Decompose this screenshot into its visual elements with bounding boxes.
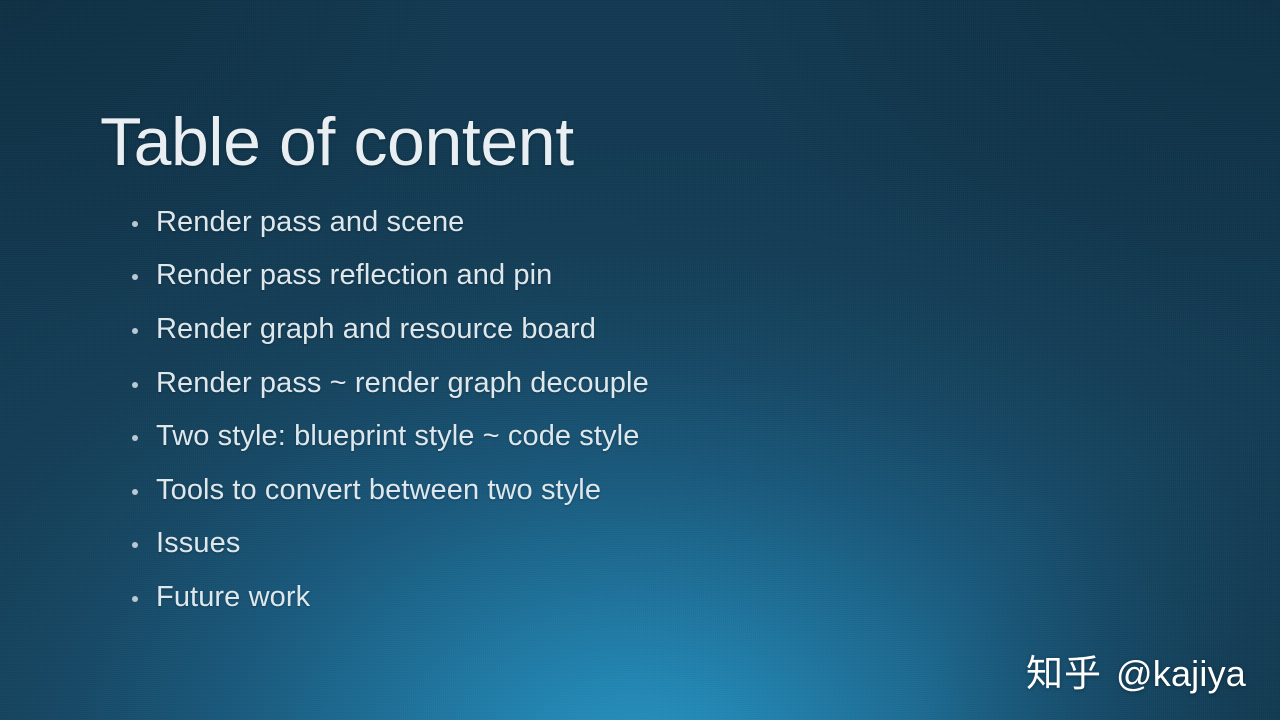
list-item: Render pass reflection and pin (128, 250, 1128, 304)
list-item: Render pass and scene (128, 196, 1128, 250)
bullet-list: Render pass and scene Render pass reflec… (128, 196, 1128, 625)
bullet-dot-icon (132, 489, 138, 495)
list-item-label: Render pass ~ render graph decouple (156, 368, 649, 400)
list-item: Render pass ~ render graph decouple (128, 357, 1128, 411)
list-item-label: Tools to convert between two style (156, 475, 601, 507)
list-item-label: Render pass and scene (156, 207, 464, 239)
list-item: Two style: blueprint style ~ code style (128, 410, 1128, 464)
bullet-dot-icon (132, 435, 138, 441)
list-item-label: Two style: blueprint style ~ code style (156, 421, 639, 453)
list-item: Issues (128, 518, 1128, 572)
list-item: Future work (128, 571, 1128, 625)
list-item-label: Render pass reflection and pin (156, 260, 552, 292)
watermark: 知乎 @kajiya (1026, 655, 1246, 692)
list-item-label: Render graph and resource board (156, 314, 596, 346)
list-item-label: Issues (156, 528, 240, 560)
presentation-slide: Table of content Render pass and scene R… (0, 0, 1280, 720)
bullet-dot-icon (132, 328, 138, 334)
bullet-dot-icon (132, 542, 138, 548)
watermark-handle: @kajiya (1116, 656, 1246, 692)
slide-content: Table of content Render pass and scene R… (0, 0, 1280, 720)
bullet-dot-icon (132, 596, 138, 602)
slide-title: Table of content (100, 108, 574, 176)
bullet-dot-icon (132, 274, 138, 280)
list-item: Tools to convert between two style (128, 464, 1128, 518)
zhihu-logo-text: 知乎 (1026, 655, 1102, 692)
bullet-dot-icon (132, 221, 138, 227)
list-item: Render graph and resource board (128, 303, 1128, 357)
bullet-dot-icon (132, 382, 138, 388)
list-item-label: Future work (156, 582, 310, 614)
